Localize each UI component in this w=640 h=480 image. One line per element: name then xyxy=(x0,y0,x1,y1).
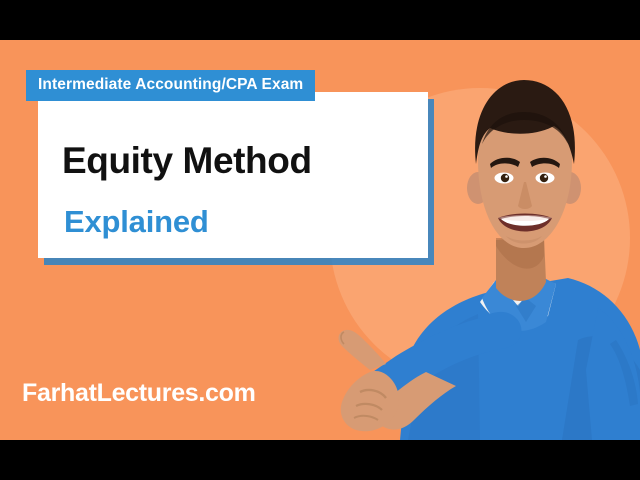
letterbox-bar-top xyxy=(0,0,640,40)
page-title: Equity Method xyxy=(62,140,312,182)
video-thumbnail: Intermediate Accounting/CPA Exam Equity … xyxy=(0,0,640,480)
presenter-photo xyxy=(330,40,640,440)
course-badge: Intermediate Accounting/CPA Exam xyxy=(26,70,315,101)
pointing-hand xyxy=(339,330,399,431)
thumbnail-stage: Intermediate Accounting/CPA Exam Equity … xyxy=(0,40,640,440)
page-subtitle: Explained xyxy=(64,204,209,240)
letterbox-bar-bottom xyxy=(0,440,640,480)
brand-watermark: FarhatLectures.com xyxy=(22,379,256,408)
